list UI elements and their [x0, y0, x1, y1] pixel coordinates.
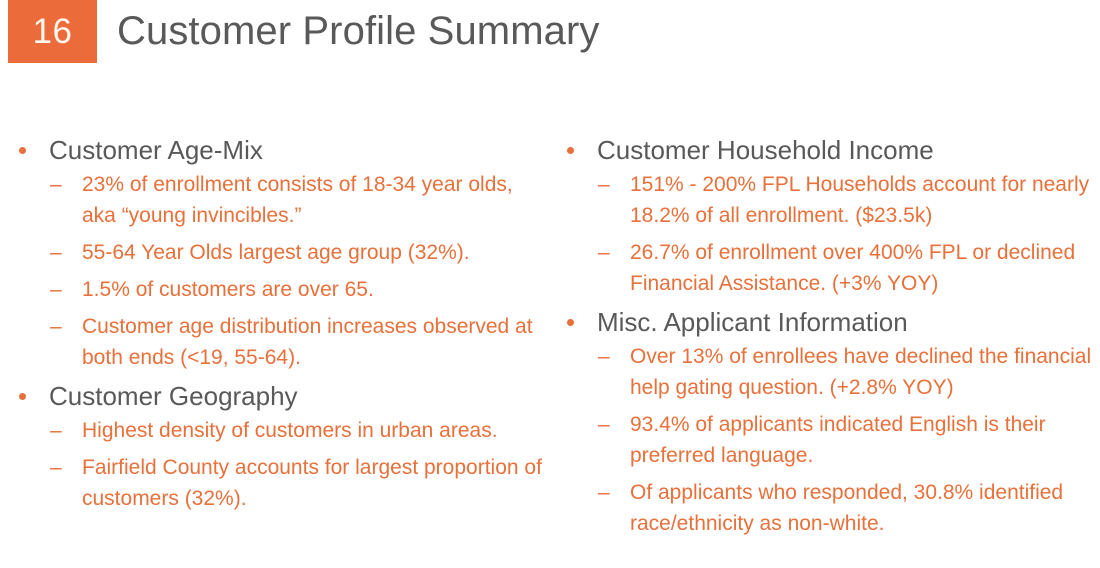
dash-bullet-icon: – — [598, 237, 614, 268]
sub-bullet-item: – Customer age distribution increases ob… — [12, 311, 552, 373]
sub-bullet-label: 55-64 Year Olds largest age group (32%). — [82, 237, 552, 268]
sub-bullet-label: Fairfield County accounts for largest pr… — [82, 452, 552, 514]
dash-bullet-icon: – — [598, 341, 614, 372]
bullet-dot-icon — [567, 147, 574, 154]
dash-bullet-icon: – — [598, 477, 614, 508]
bullet-group-household-income: Customer Household Income – 151% - 200% … — [560, 133, 1100, 299]
bullet-heading-customer-geography: Customer Geography — [12, 379, 552, 413]
sub-bullet-item: – Over 13% of enrollees have declined th… — [560, 341, 1100, 403]
dash-bullet-icon: – — [598, 409, 614, 440]
sub-bullet-item: – 55-64 Year Olds largest age group (32%… — [12, 237, 552, 268]
sub-bullet-label: Of applicants who responded, 30.8% ident… — [630, 477, 1100, 539]
dash-bullet-icon: – — [50, 415, 66, 446]
bullet-dot-icon — [19, 393, 26, 400]
dash-bullet-icon: – — [50, 274, 66, 305]
sub-bullet-item: – Fairfield County accounts for largest … — [12, 452, 552, 514]
sub-bullet-item: – Of applicants who responded, 30.8% ide… — [560, 477, 1100, 539]
sub-bullet-label: Highest density of customers in urban ar… — [82, 415, 552, 446]
bullet-dot-icon — [567, 319, 574, 326]
sub-bullet-label: Over 13% of enrollees have declined the … — [630, 341, 1100, 403]
bullet-heading-misc-applicant-information: Misc. Applicant Information — [560, 305, 1100, 339]
sub-bullet-label: 23% of enrollment consists of 18-34 year… — [82, 169, 552, 231]
sub-bullet-label: 151% - 200% FPL Households account for n… — [630, 169, 1100, 231]
dash-bullet-icon: – — [50, 452, 66, 483]
sub-bullet-item: – 151% - 200% FPL Households account for… — [560, 169, 1100, 231]
page-title: Customer Profile Summary — [117, 3, 600, 59]
slide: 16 Customer Profile Summary Customer Age… — [0, 0, 1100, 568]
sub-bullet-item: – Highest density of customers in urban … — [12, 415, 552, 446]
dash-bullet-icon: – — [50, 311, 66, 342]
dash-bullet-icon: – — [50, 169, 66, 200]
bullet-heading-label: Customer Household Income — [597, 135, 934, 165]
sub-bullet-item: – 1.5% of customers are over 65. — [12, 274, 552, 305]
slide-number-badge: 16 — [8, 0, 97, 63]
left-column: Customer Age-Mix – 23% of enrollment con… — [0, 133, 552, 545]
sub-bullet-item: – 93.4% of applicants indicated English … — [560, 409, 1100, 471]
slide-number-text: 16 — [33, 14, 73, 49]
dash-bullet-icon: – — [598, 169, 614, 200]
dash-bullet-icon: – — [50, 237, 66, 268]
bullet-group-misc-applicant-information: Misc. Applicant Information – Over 13% o… — [560, 305, 1100, 539]
bullet-group-age-mix: Customer Age-Mix – 23% of enrollment con… — [12, 133, 552, 373]
sub-bullet-label: 26.7% of enrollment over 400% FPL or dec… — [630, 237, 1100, 299]
sub-bullet-label: 93.4% of applicants indicated English is… — [630, 409, 1100, 471]
sub-bullet-item: – 26.7% of enrollment over 400% FPL or d… — [560, 237, 1100, 299]
sub-bullet-label: Customer age distribution increases obse… — [82, 311, 552, 373]
slide-body: Customer Age-Mix – 23% of enrollment con… — [0, 133, 1100, 545]
sub-bullet-item: – 23% of enrollment consists of 18-34 ye… — [12, 169, 552, 231]
sub-bullet-label: 1.5% of customers are over 65. — [82, 274, 552, 305]
bullet-heading-label: Customer Age-Mix — [49, 135, 263, 165]
bullet-heading-customer-household-income: Customer Household Income — [560, 133, 1100, 167]
slide-header: 16 Customer Profile Summary — [0, 0, 1100, 70]
bullet-dot-icon — [19, 147, 26, 154]
bullet-heading-label: Customer Geography — [49, 381, 298, 411]
bullet-heading-label: Misc. Applicant Information — [597, 307, 908, 337]
bullet-heading-customer-age-mix: Customer Age-Mix — [12, 133, 552, 167]
